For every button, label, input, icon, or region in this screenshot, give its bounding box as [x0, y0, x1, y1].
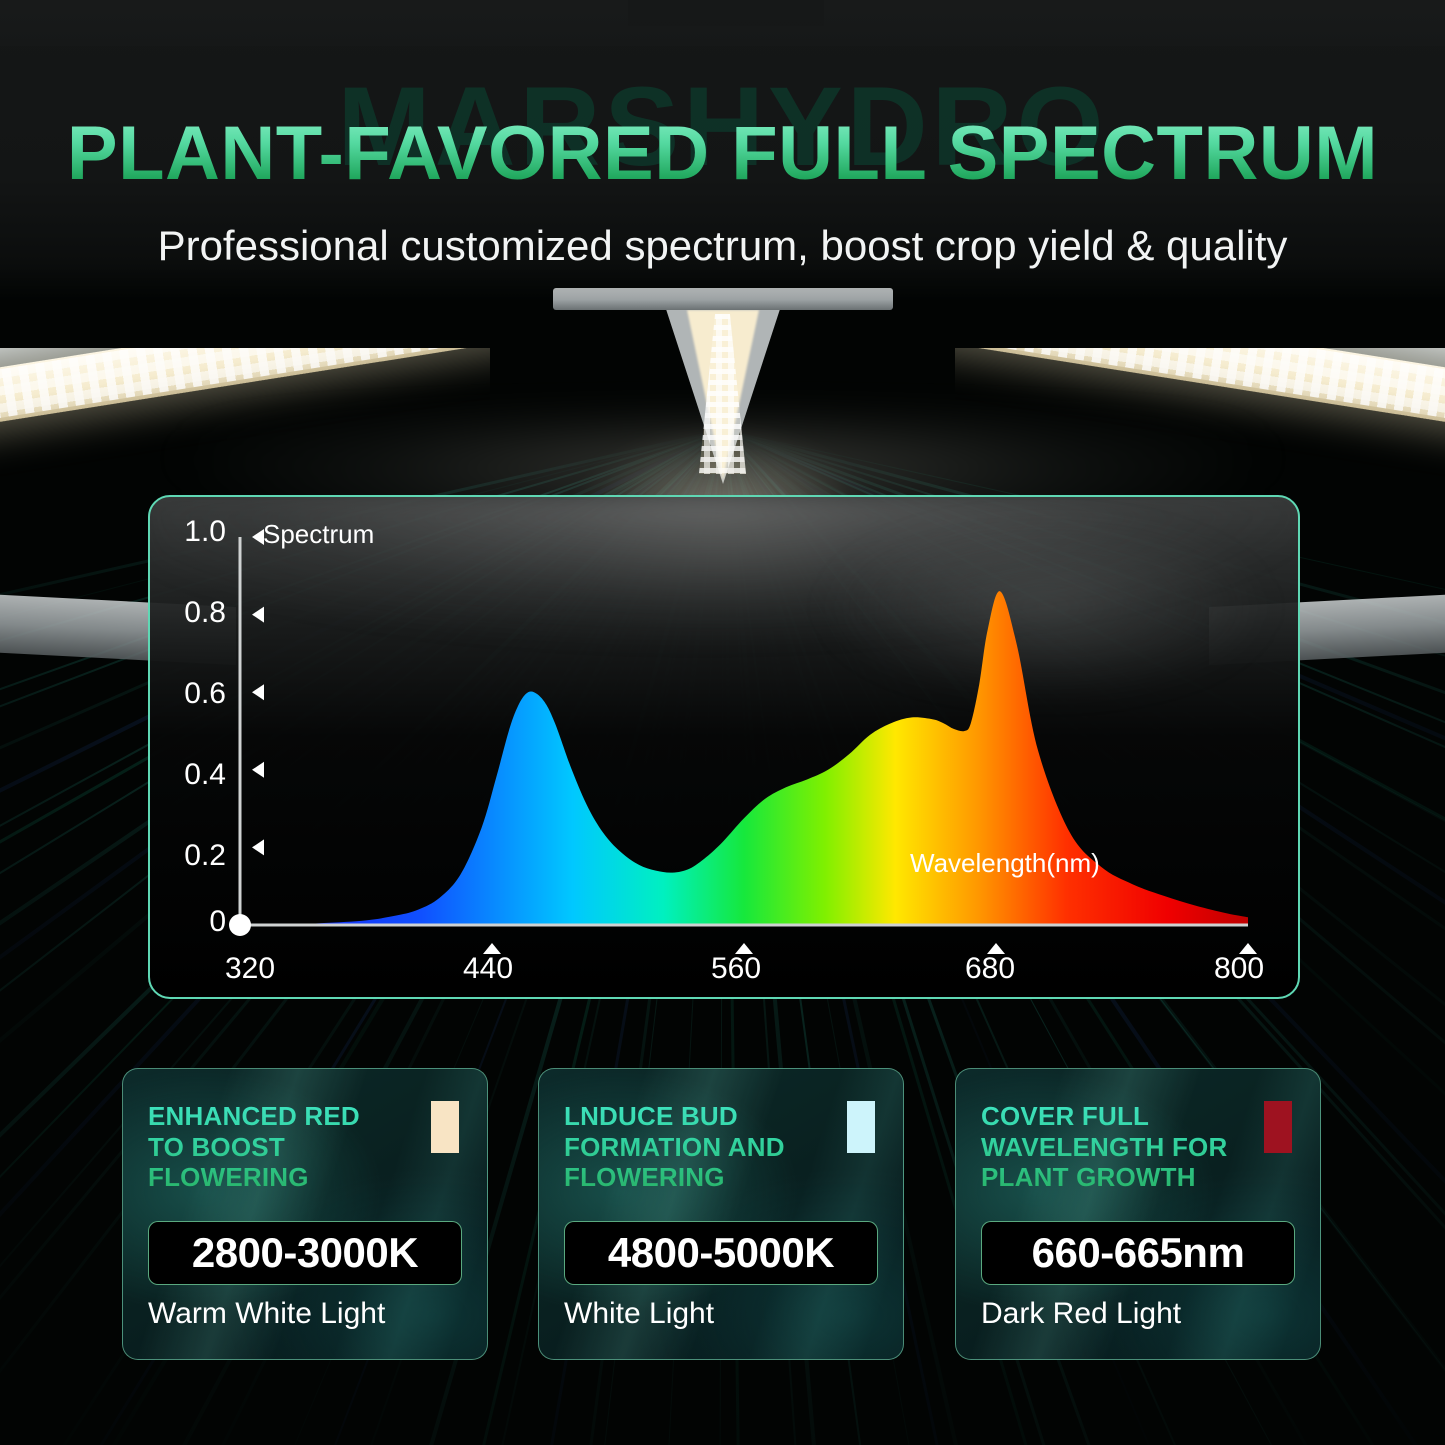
x-tick-label-560: 560 [681, 952, 791, 986]
feature-card-white[interactable]: LNDUCE BUD FORMATION AND FLOWERING 4800-… [538, 1068, 904, 1360]
infographic-root: MARSHYDRO PLANT-FAVORED FULL SPECTRUM Pr… [0, 0, 1445, 1445]
color-swatch-warm-white [431, 1101, 459, 1153]
y-tick-triangle [252, 607, 264, 623]
page-subtitle: Professional customized spectrum, boost … [0, 222, 1445, 270]
feature-card-warm-white[interactable]: ENHANCED RED TO BOOST FLOWERING 2800-300… [122, 1068, 488, 1360]
y-tick-label-0.6: 0.6 [164, 677, 226, 711]
card-heading: ENHANCED RED TO BOOST FLOWERING [148, 1101, 398, 1193]
y-tick-triangle [252, 839, 264, 855]
card-heading: LNDUCE BUD FORMATION AND FLOWERING [564, 1101, 814, 1193]
card-value-box: 660-665nm [981, 1221, 1295, 1285]
y-tick-label-0.8: 0.8 [164, 596, 226, 630]
card-value: 2800-3000K [192, 1229, 418, 1277]
axis-origin-dot [229, 914, 251, 936]
x-axis-title: Wavelength(nm) [910, 848, 1100, 879]
y-axis-ticks [252, 529, 264, 855]
page-title: PLANT-FAVORED FULL SPECTRUM [0, 110, 1445, 197]
card-footer: Dark Red Light [981, 1297, 1181, 1331]
x-axis-ticks [483, 943, 1257, 954]
card-heading: COVER FULL WAVELENGTH FOR PLANT GROWTH [981, 1101, 1231, 1193]
y-tick-triangle [252, 684, 264, 700]
y-tick-label-0.2: 0.2 [164, 839, 226, 873]
grow-light-fixture-right [955, 348, 1445, 518]
card-value: 4800-5000K [608, 1229, 834, 1277]
fixture-led-dots [955, 348, 1445, 454]
spectrum-chart-svg [150, 497, 1298, 997]
x-tick-label-440: 440 [433, 952, 543, 986]
y-axis-title: Spectrum [263, 519, 374, 550]
y-tick-label-1.0: 1.0 [164, 515, 226, 549]
feature-card-row: ENHANCED RED TO BOOST FLOWERING 2800-300… [0, 1068, 1445, 1368]
grow-light-fixture-left [0, 348, 490, 518]
feature-card-dark-red[interactable]: COVER FULL WAVELENGTH FOR PLANT GROWTH 6… [955, 1068, 1321, 1360]
card-footer: Warm White Light [148, 1297, 385, 1331]
y-tick-label-0.4: 0.4 [164, 758, 226, 792]
x-tick-label-680: 680 [935, 952, 1045, 986]
color-swatch-dark-red [1264, 1101, 1292, 1153]
y-tick-triangle [252, 762, 264, 778]
spectrum-chart-panel: 1.0 0.8 0.6 0.4 0.2 0 320 440 560 680 80… [148, 495, 1300, 999]
x-tick-label-800: 800 [1184, 952, 1294, 986]
y-tick-label-0: 0 [164, 905, 226, 939]
color-swatch-white [847, 1101, 875, 1153]
card-value-box: 2800-3000K [148, 1221, 462, 1285]
card-footer: White Light [564, 1297, 714, 1331]
fixture-led-dots [0, 348, 490, 454]
card-value: 660-665nm [1032, 1229, 1245, 1277]
grow-light-fixture-center [558, 288, 888, 478]
card-value-box: 4800-5000K [564, 1221, 878, 1285]
x-tick-label-320: 320 [195, 952, 305, 986]
